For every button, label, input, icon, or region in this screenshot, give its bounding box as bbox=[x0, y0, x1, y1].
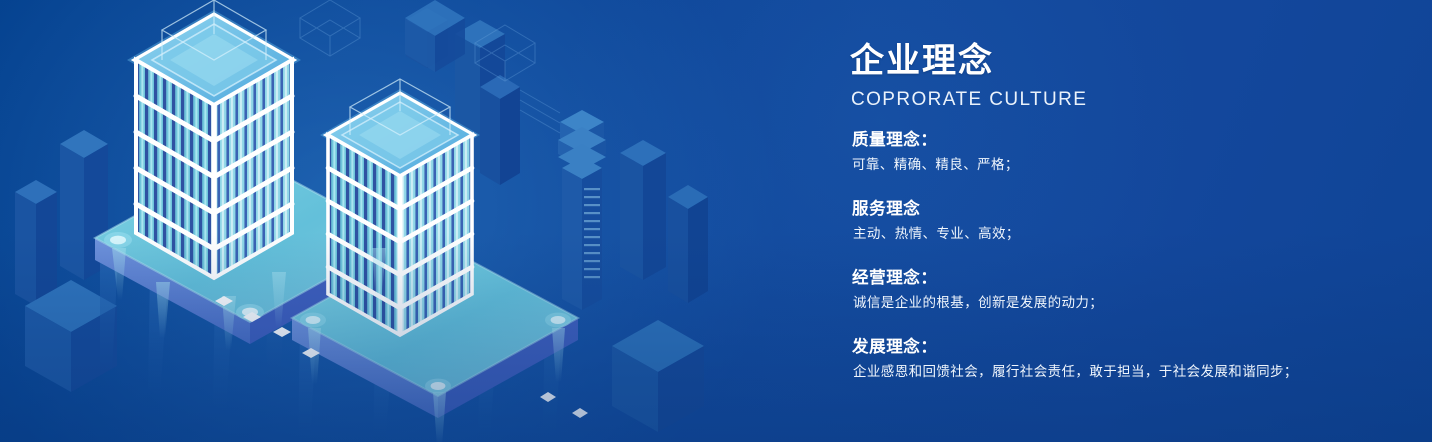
section-service-title: 服务理念 bbox=[852, 200, 1020, 219]
page-title: 企业理念 bbox=[850, 44, 994, 78]
section-management-title: 经营理念： bbox=[852, 269, 1103, 288]
section-service: 服务理念 主动、热情、专业、高效； bbox=[852, 200, 1020, 243]
section-quality: 质量理念： 可靠、精确、精良、严格； bbox=[852, 131, 1019, 174]
section-service-body: 主动、热情、专业、高效； bbox=[853, 226, 1020, 243]
section-management: 经营理念： 诚信是企业的根基，创新是发展的动力； bbox=[852, 269, 1103, 312]
section-development-title: 发展理念： bbox=[852, 338, 1298, 357]
text-column: 企业理念 COPRORATE CULTURE 质量理念： 可靠、精确、精良、严格… bbox=[850, 0, 1410, 442]
section-quality-title: 质量理念： bbox=[852, 131, 1019, 150]
section-development-body: 企业感恩和回馈社会，履行社会责任，敢于担当，于社会发展和谐同步； bbox=[853, 364, 1298, 381]
corporate-culture-banner: 企业理念 COPRORATE CULTURE 质量理念： 可靠、精确、精良、严格… bbox=[0, 0, 1432, 442]
section-development: 发展理念： 企业感恩和回馈社会，履行社会责任，敢于担当，于社会发展和谐同步； bbox=[852, 338, 1298, 381]
section-management-body: 诚信是企业的根基，创新是发展的动力； bbox=[853, 295, 1103, 312]
section-quality-body: 可靠、精确、精良、严格； bbox=[852, 157, 1019, 174]
page-subtitle: COPRORATE CULTURE bbox=[851, 89, 1087, 111]
